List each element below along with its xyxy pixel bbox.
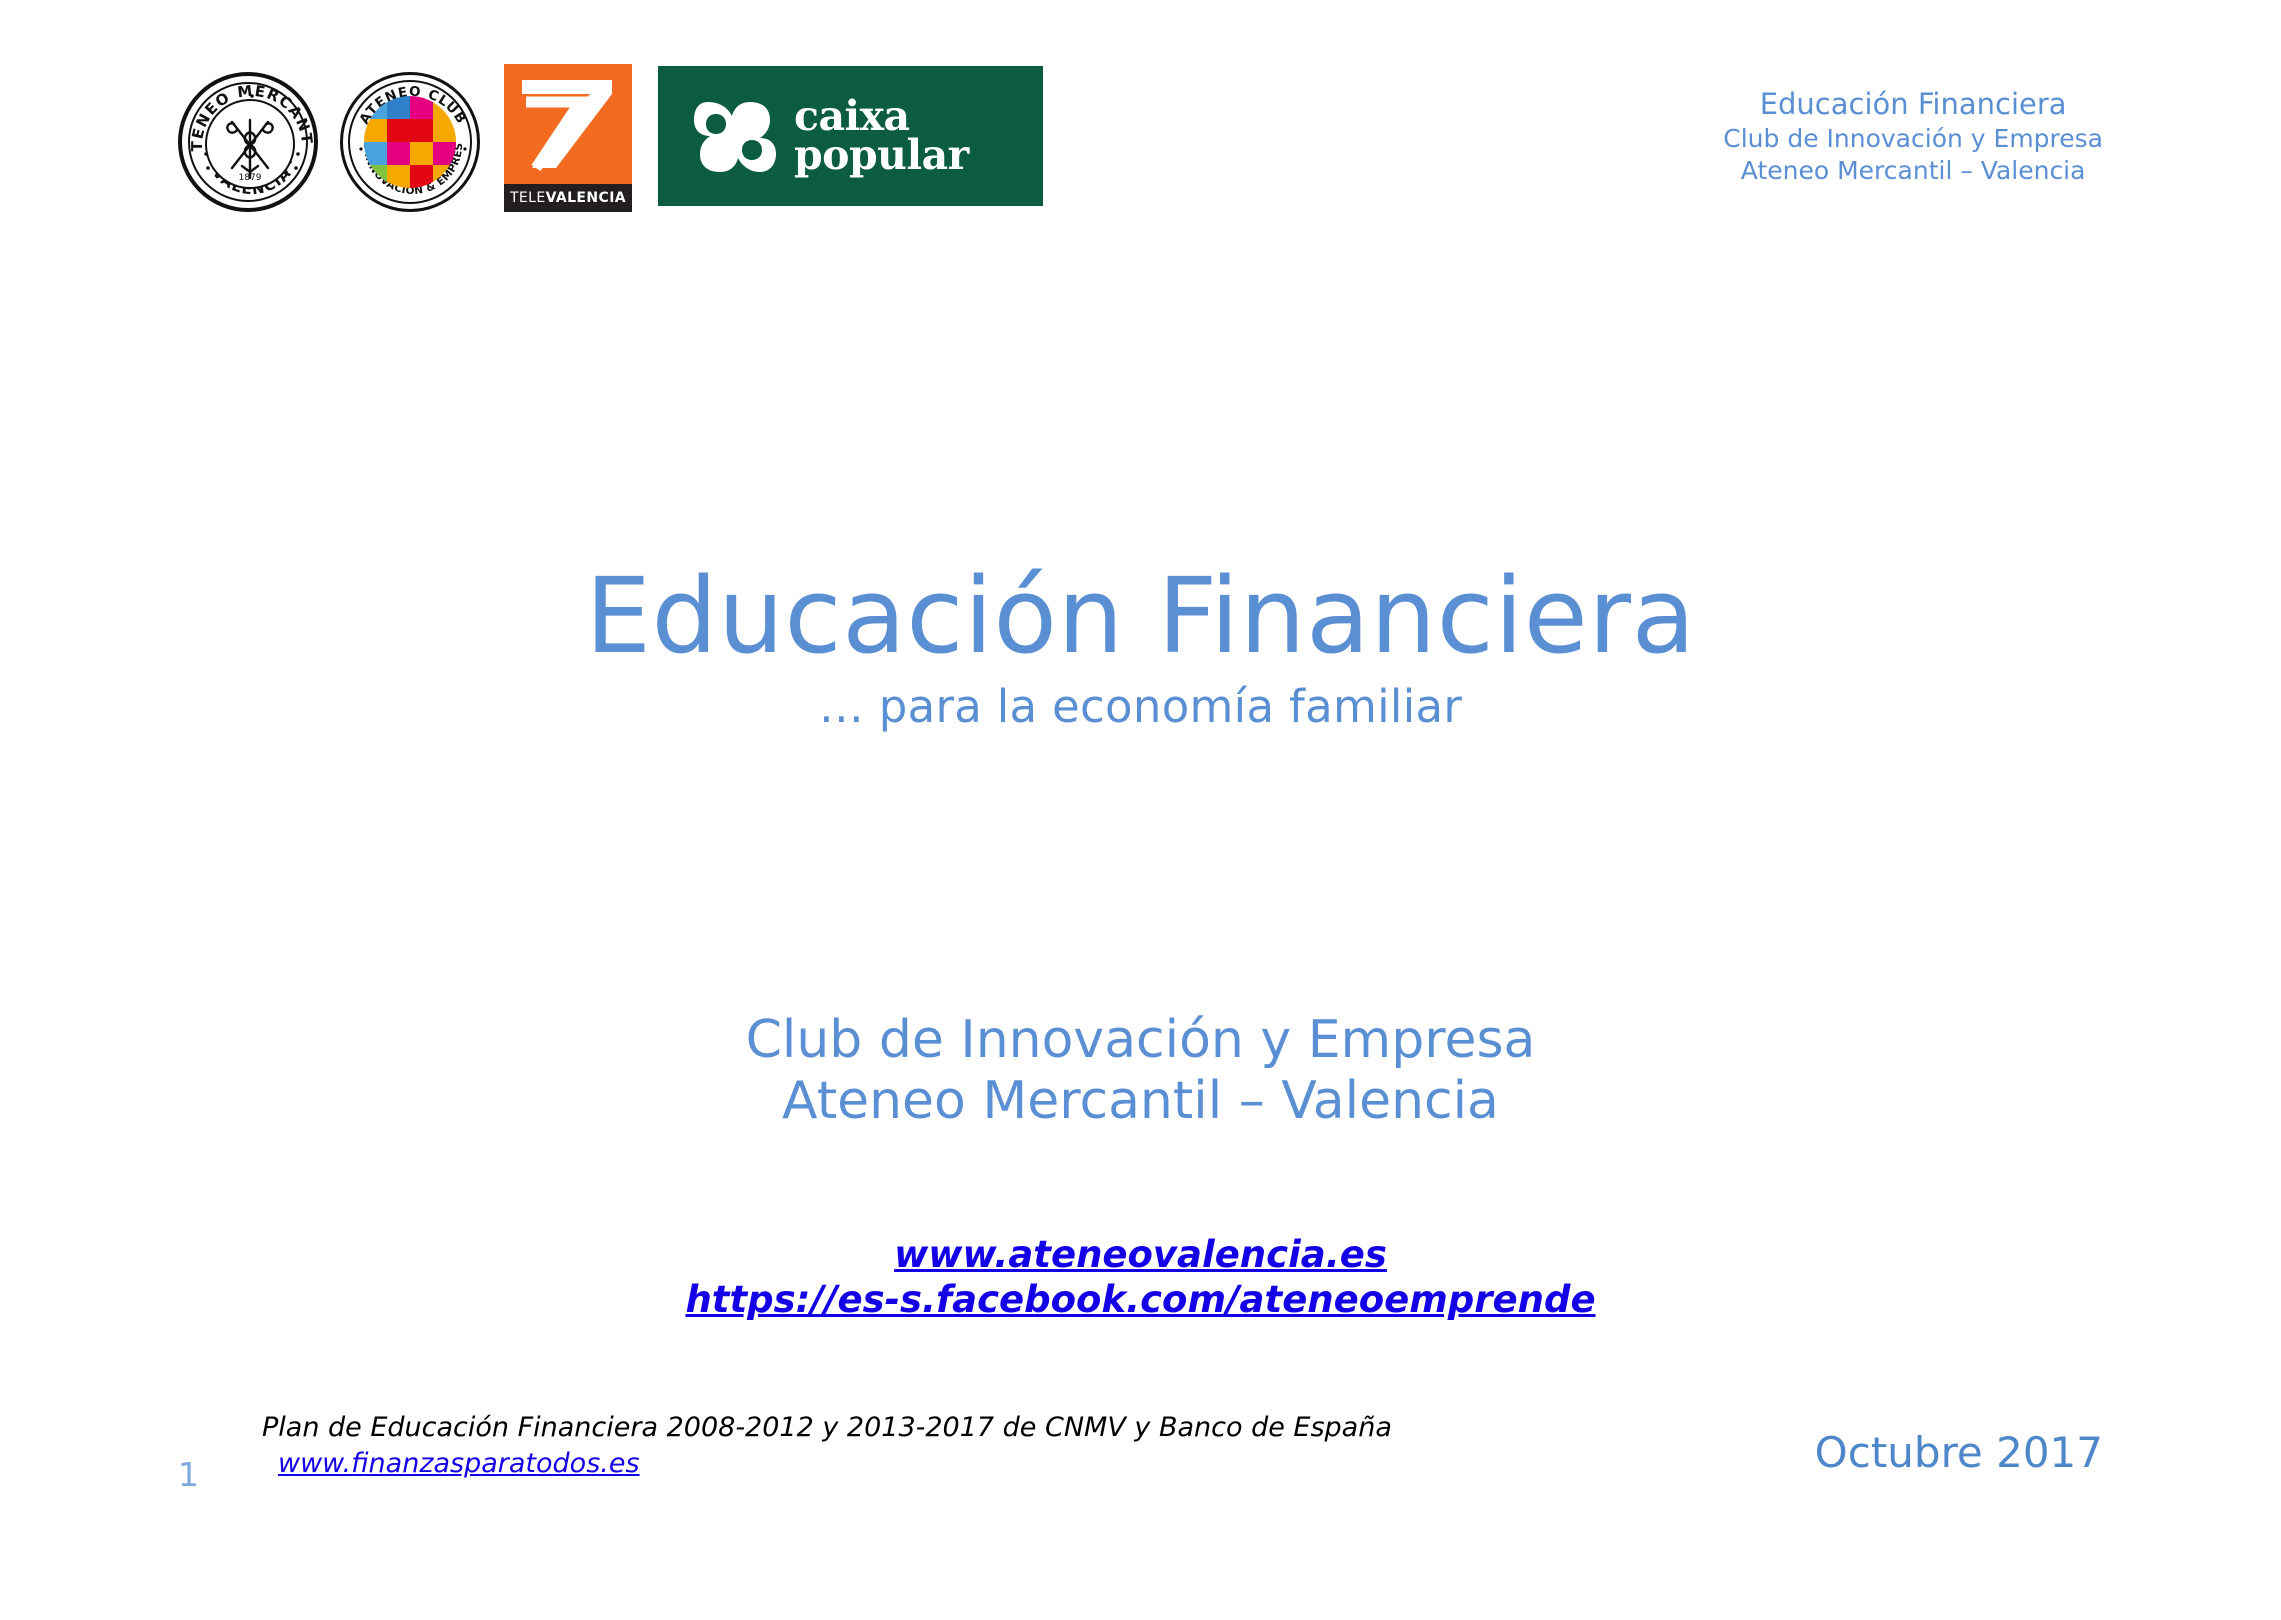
organization-line-1: Club de Innovación y Empresa: [0, 1010, 2281, 1071]
page-title: Educación Financiera: [0, 560, 2281, 672]
televalencia-wordmark: TELEVALENCIA: [504, 184, 632, 212]
club-color-checker: [364, 96, 456, 188]
caixa-popular-mark-icon: [694, 96, 776, 176]
organization-line-2: Ateneo Mercantil – Valencia: [0, 1071, 2281, 1132]
ateneo-mercantil-logo: ATENEO MERCANTIL VALENCIA: [178, 72, 318, 212]
link-finanzasparatodos[interactable]: www.finanzasparatodos.es: [278, 1446, 640, 1482]
caixa-popular-logo: caixa popular: [658, 66, 1043, 206]
link-ateneovalencia[interactable]: www.ateneovalencia.es: [894, 1232, 1387, 1277]
club-arc-top-label: ATENEO CLUB: [356, 84, 469, 127]
caduceus-emblem: 1879: [212, 106, 288, 182]
header-line-club: Club de Innovación y Empresa: [1723, 123, 2103, 155]
televalencia-orange-panel: [504, 64, 632, 184]
header-logo-band: ATENEO MERCANTIL VALENCIA: [178, 60, 1043, 220]
club-arc-bottom-label: de INNOVACIÓN & EMPRESA: [343, 75, 465, 197]
seal-inner-ring: 1879: [205, 99, 295, 189]
links-block: www.ateneovalencia.es https://es-s.faceb…: [0, 1232, 2281, 1322]
footer-date: Octubre 2017: [1815, 1428, 2103, 1477]
footer-note-text: Plan de Educación Financiera 2008-2012 y…: [262, 1410, 1392, 1446]
seal-year-label: 1879: [239, 173, 262, 182]
ateneo-club-logo: ATENEO CLUB de INNOVACIÓN & EMPRESA: [340, 72, 480, 212]
slide-title-block: Educación Financiera … para la economía …: [0, 560, 2281, 733]
page-subtitle: … para la economía familiar: [0, 680, 2281, 733]
ateneo-mercantil-arc-text: ATENEO MERCANTIL VALENCIA: [182, 76, 322, 216]
televalencia-logo: TELEVALENCIA: [504, 64, 632, 212]
ateneo-club-arc-text: ATENEO CLUB de INNOVACIÓN & EMPRESA: [343, 75, 483, 215]
header-line-subject: Educación Financiera: [1723, 86, 2103, 123]
footer-note-block: Plan de Educación Financiera 2008-2012 y…: [262, 1410, 1392, 1481]
caixa-word-line2: popular: [794, 136, 969, 175]
header-line-ateneo: Ateneo Mercantil – Valencia: [1723, 155, 2103, 187]
televalencia-word-valencia: VALENCIA: [546, 190, 626, 206]
televalencia-word-tele: TELE: [510, 190, 546, 206]
organization-block: Club de Innovación y Empresa Ateneo Merc…: [0, 1010, 2281, 1133]
page-number: 1: [178, 1455, 199, 1494]
header-subject-block: Educación Financiera Club de Innovación …: [1723, 86, 2103, 187]
caixa-popular-wordmark: caixa popular: [794, 97, 969, 175]
televalencia-seven-icon: [504, 64, 632, 184]
link-facebook-ateneoemprende[interactable]: https://es-s.facebook.com/ateneoemprende: [685, 1277, 1595, 1322]
seal-arc-bottom-label: VALENCIA: [209, 164, 295, 199]
seal-arc-top-label: ATENEO MERCANTIL: [182, 76, 316, 152]
